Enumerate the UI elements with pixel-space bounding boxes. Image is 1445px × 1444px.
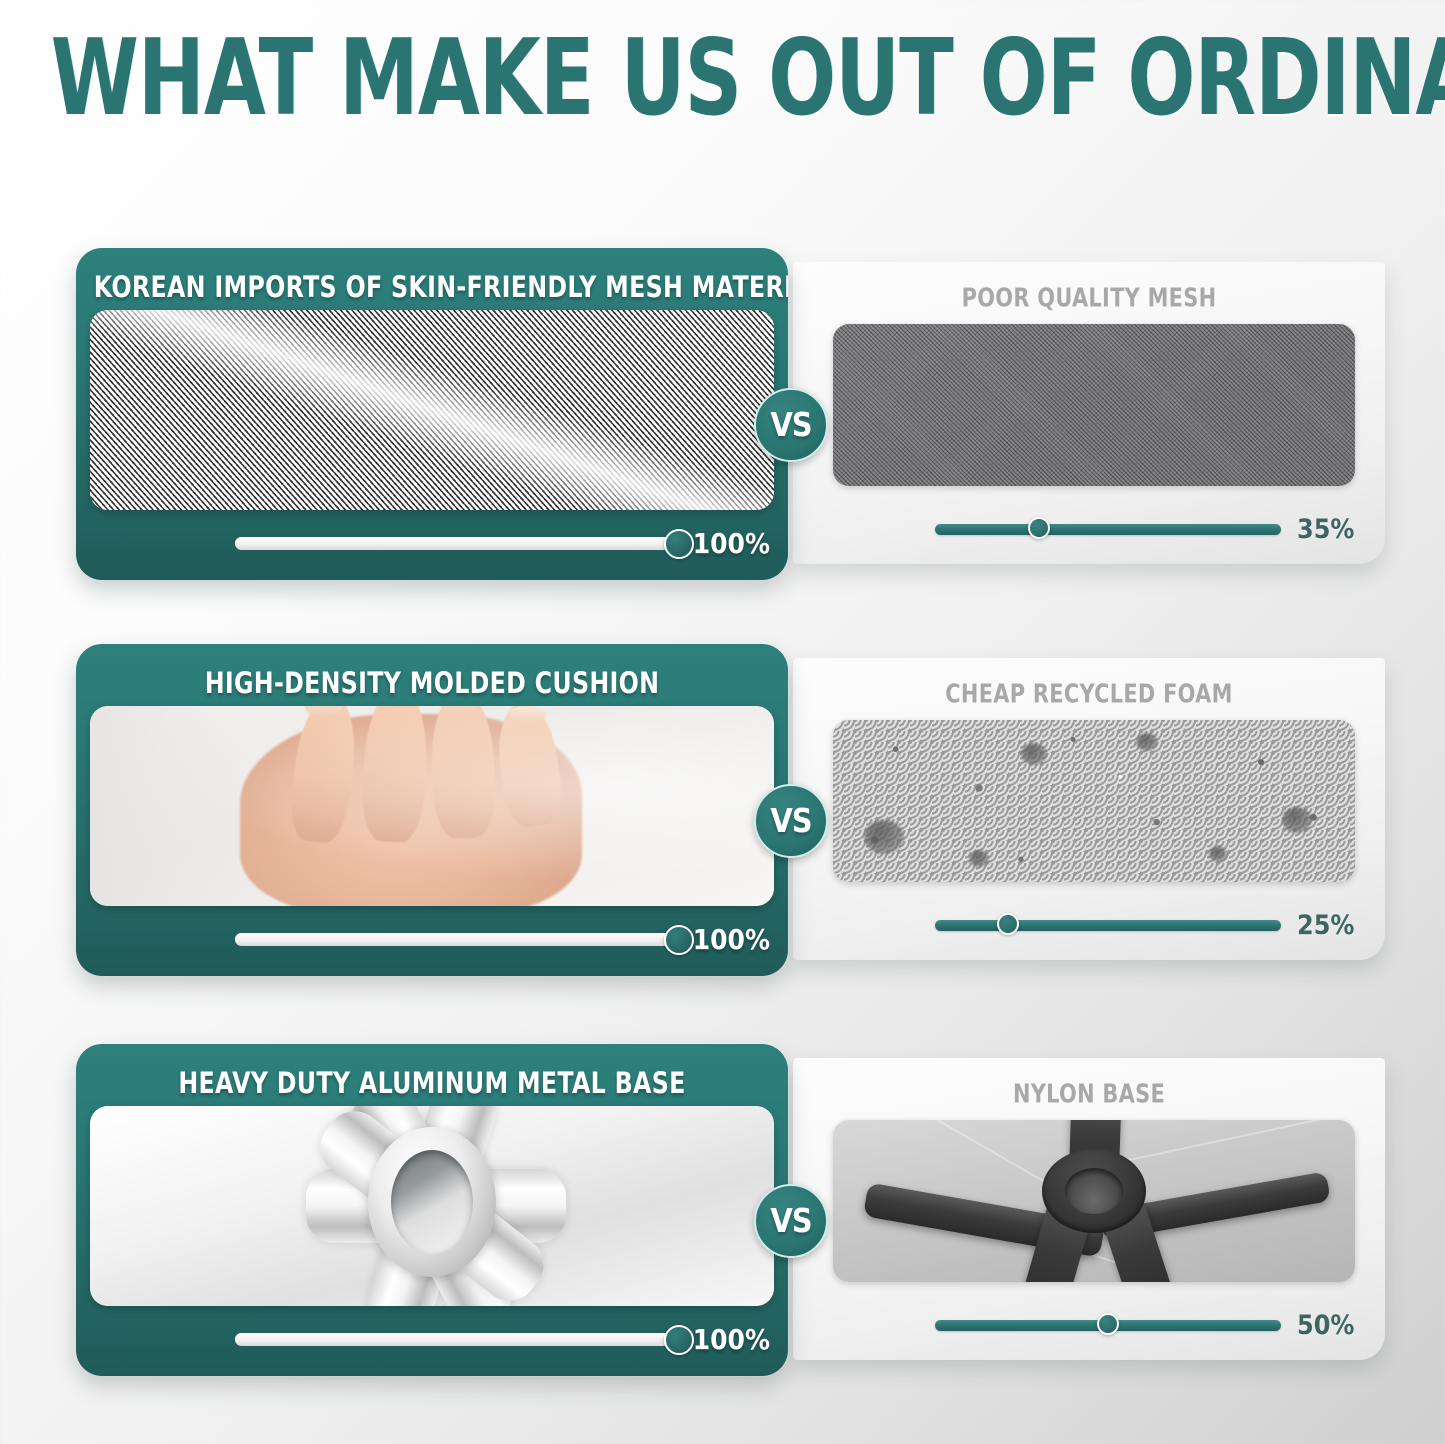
bad-percent-label: 35% [1297, 513, 1359, 544]
recycled-foam-texture-photo [833, 720, 1355, 882]
slider-track [235, 1333, 679, 1346]
bad-percent-label: 50% [1297, 1309, 1359, 1340]
mesh-fabric-closeup-photo [90, 310, 774, 510]
bad-progress-slider[interactable] [935, 522, 1281, 536]
vs-badge: VS [754, 784, 828, 858]
bad-percent-label: 25% [1297, 909, 1359, 940]
good-card: HIGH-DENSITY MOLDED CUSHION 100% [76, 644, 788, 976]
good-progress-slider[interactable] [235, 930, 679, 948]
aluminum-chair-base-photo [90, 1106, 774, 1306]
slider-thumb[interactable] [664, 925, 694, 955]
good-card: HEAVY DUTY ALUMINUM METAL BASE 100% [76, 1044, 788, 1376]
good-percent-label: 100% [693, 527, 770, 559]
bad-card-title: POOR QUALITY MESH [808, 284, 1370, 314]
slider-thumb[interactable] [997, 913, 1019, 935]
bad-card: POOR QUALITY MESH 35% [793, 262, 1385, 564]
slider-track [935, 920, 1281, 931]
bad-card: CHEAP RECYCLED FOAM 25% [793, 658, 1385, 960]
bad-slider-row: 35% [793, 516, 1385, 542]
good-card-title: HIGH-DENSITY MOLDED CUSHION [94, 666, 770, 700]
bad-progress-slider[interactable] [935, 1318, 1281, 1332]
bad-slider-row: 50% [793, 1312, 1385, 1338]
bad-card-title: CHEAP RECYCLED FOAM [808, 680, 1370, 710]
good-card-title: HEAVY DUTY ALUMINUM METAL BASE [94, 1066, 770, 1100]
bad-card: NYLON BASE 50% [793, 1058, 1385, 1360]
good-card-title: KOREAN IMPORTS OF SKIN-FRIENDLY MESH MAT… [94, 270, 770, 304]
slider-thumb[interactable] [1097, 1313, 1119, 1335]
good-slider-row: 100% [76, 528, 788, 558]
page-title: WHAT MAKE US OUT OF ORDINARY [51, 26, 1395, 131]
bad-slider-row: 25% [793, 912, 1385, 938]
good-slider-row: 100% [76, 1324, 788, 1354]
good-progress-slider[interactable] [235, 534, 679, 552]
nylon-chair-base-photo [833, 1120, 1355, 1282]
bad-card-title: NYLON BASE [808, 1080, 1370, 1110]
comparison-row: CHEAP RECYCLED FOAM 25% HIGH-DENSITY MOL… [0, 640, 1445, 980]
slider-thumb[interactable] [664, 529, 694, 559]
vs-badge: VS [754, 1184, 828, 1258]
poor-quality-mesh-photo [833, 324, 1355, 486]
vs-badge-label: VS [770, 406, 811, 444]
hand-pressing-cushion-photo [90, 706, 774, 906]
slider-thumb[interactable] [1028, 517, 1050, 539]
good-percent-label: 100% [693, 923, 770, 955]
comparison-row: NYLON BASE 50% HEAVY DUTY A [0, 1040, 1445, 1380]
good-progress-slider[interactable] [235, 1330, 679, 1348]
slider-thumb[interactable] [664, 1325, 694, 1355]
good-card: KOREAN IMPORTS OF SKIN-FRIENDLY MESH MAT… [76, 248, 788, 580]
slider-track [235, 933, 679, 946]
slider-track [235, 537, 679, 550]
comparison-row: POOR QUALITY MESH 35% KOREAN IMPORTS OF … [0, 244, 1445, 584]
vs-badge-label: VS [770, 1202, 811, 1240]
good-slider-row: 100% [76, 924, 788, 954]
vs-badge: VS [754, 388, 828, 462]
vs-badge-label: VS [770, 802, 811, 840]
good-percent-label: 100% [693, 1323, 770, 1355]
slider-track [935, 524, 1281, 535]
bad-progress-slider[interactable] [935, 918, 1281, 932]
